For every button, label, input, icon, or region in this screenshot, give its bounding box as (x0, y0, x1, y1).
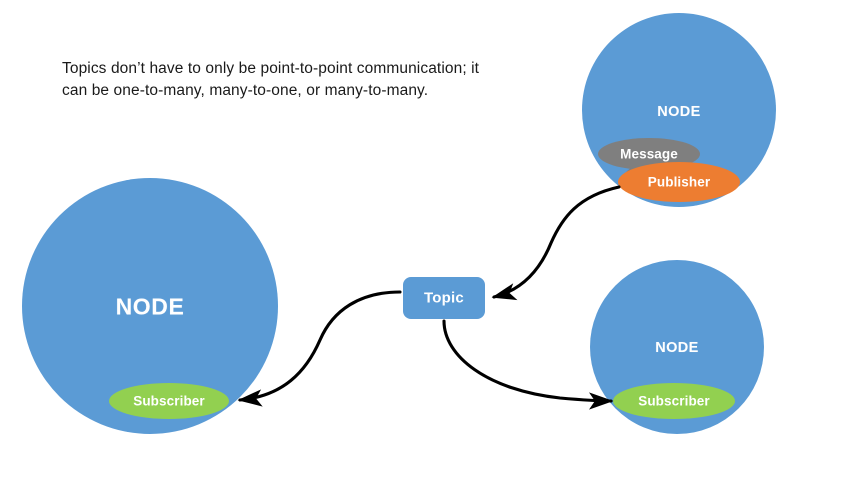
node-label-top-right: NODE (657, 104, 701, 120)
caption-text: Topics don’t have to only be point-to-po… (62, 58, 482, 103)
arrow-publisher-to-topic (494, 187, 619, 297)
node-label-left: NODE (116, 294, 185, 321)
slide-canvas: Topics don’t have to only be point-to-po… (0, 0, 854, 480)
subscriber-label-bottom-right: Subscriber (638, 394, 710, 409)
arrow-topic-to-subscriber-bottom-right (444, 321, 611, 401)
topic-label: Topic (424, 290, 464, 307)
message-label: Message (620, 147, 678, 162)
publisher-label: Publisher (648, 175, 710, 190)
node-label-bottom-right: NODE (655, 340, 699, 356)
subscriber-label-left: Subscriber (133, 394, 205, 409)
